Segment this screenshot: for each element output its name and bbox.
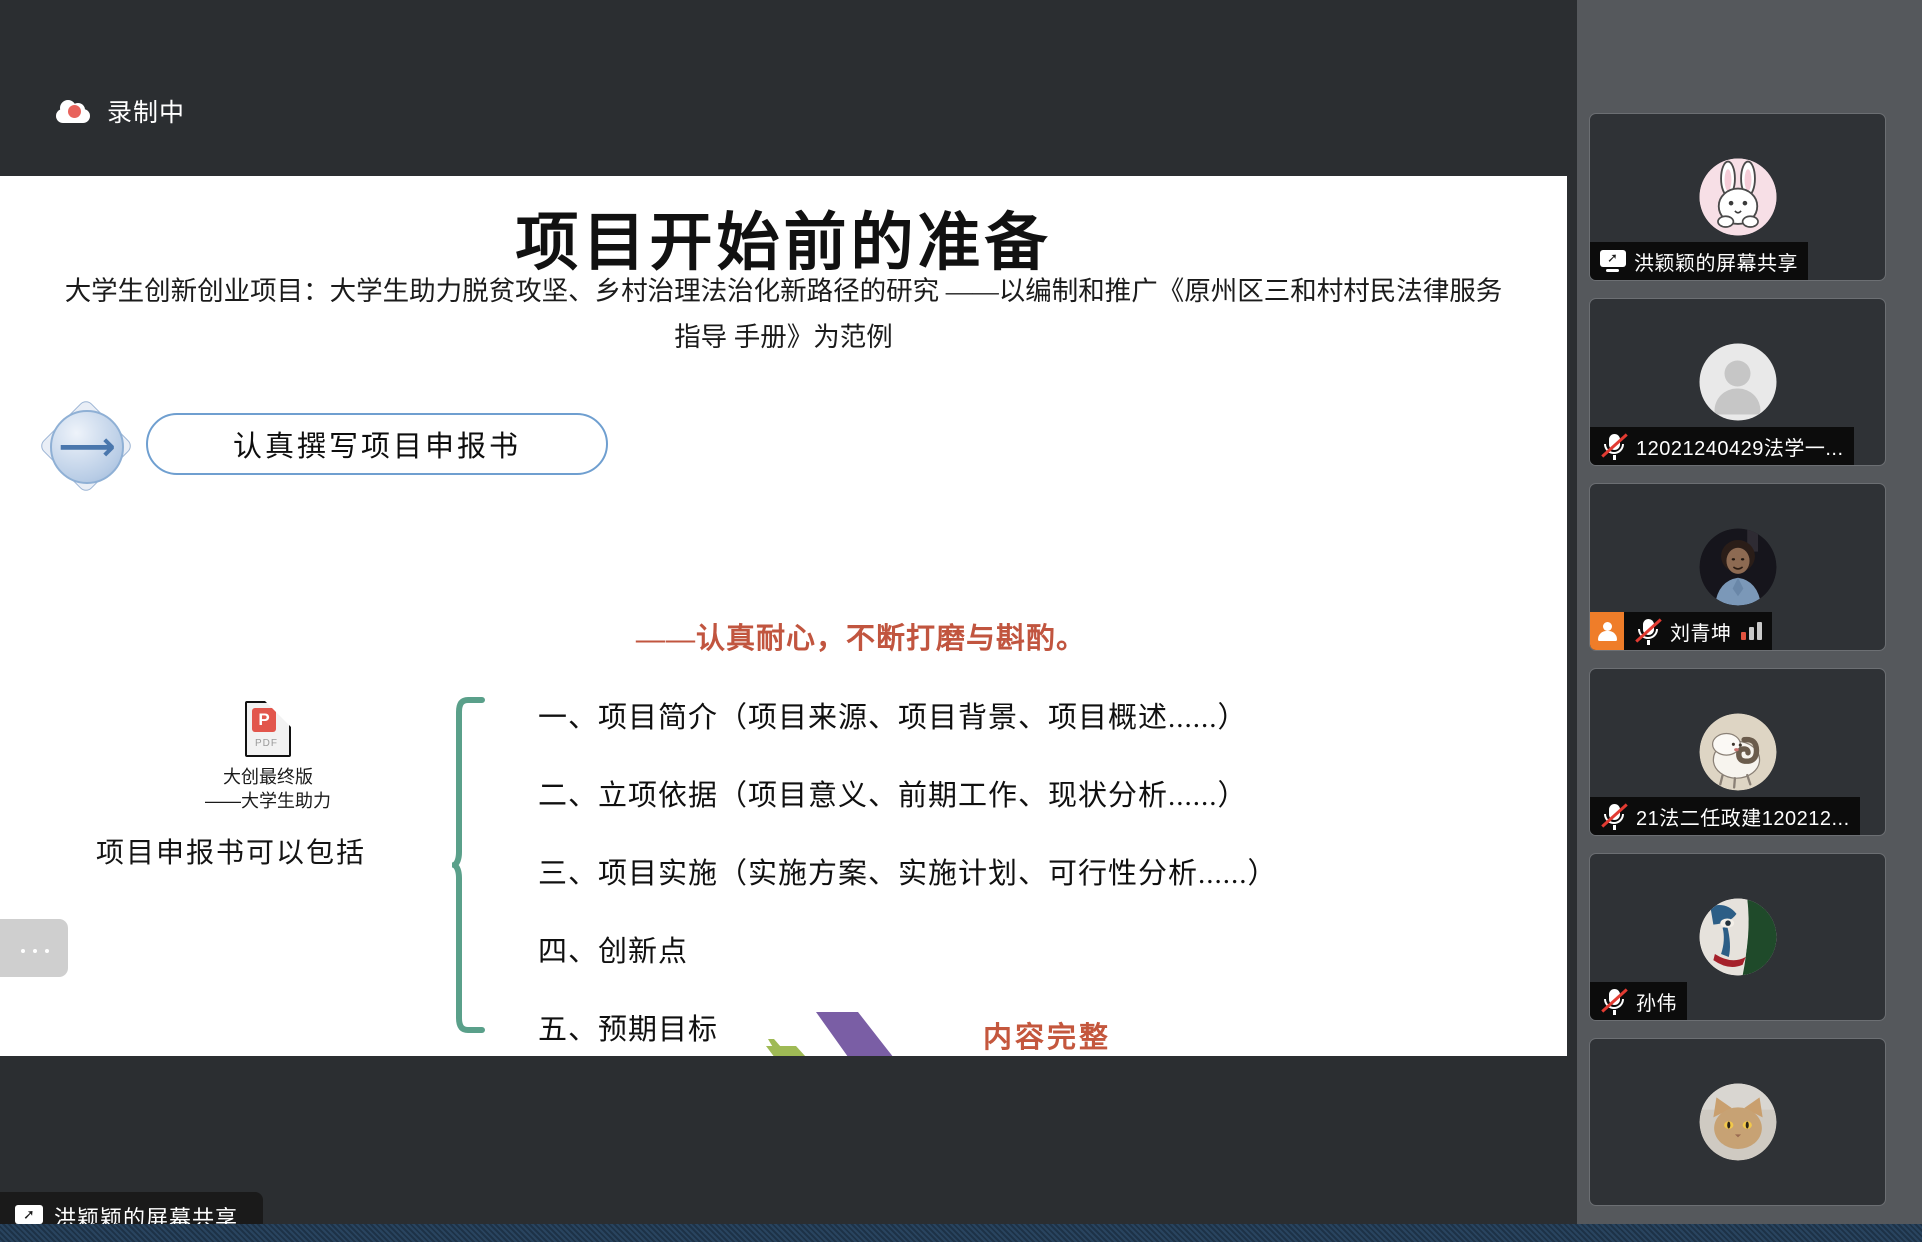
screen-share-icon: ➚ xyxy=(1600,250,1626,272)
participant-tile[interactable]: ➚ 洪颖颖的屏幕共享 xyxy=(1589,113,1886,281)
signal-strength-icon xyxy=(1741,622,1762,640)
participant-nameplate: 孙伟 xyxy=(1590,982,1687,1020)
right-arrow-icon: ⟶ xyxy=(40,404,136,490)
participant-tile[interactable] xyxy=(1589,1038,1886,1206)
pdf-file-name: 大创最终版 ——大学生助力 xyxy=(178,765,358,814)
quality-points-list: 内容完整 逻辑清晰 格式正确 质量过关 xyxy=(983,1014,1111,1056)
pdf-name-line-1: 大创最终版 xyxy=(178,765,358,789)
sheep-avatar xyxy=(1699,714,1776,791)
participant-name: 21法二任政建120212... xyxy=(1636,802,1850,831)
photo-avatar-man xyxy=(1699,529,1776,606)
list-item: 一、项目简介（项目来源、项目背景、项目概述......） xyxy=(538,694,1278,736)
mic-muted-icon xyxy=(1634,616,1662,646)
slide-red-note: ——认真耐心，不断打磨与斟酌。 xyxy=(636,615,1086,657)
participant-name: 孙伟 xyxy=(1636,987,1677,1016)
participant-name: 12021240429法学一... xyxy=(1636,432,1844,461)
desktop-wallpaper-strip xyxy=(0,1224,1922,1242)
shared-slide[interactable]: 项目开始前的准备 大学生创新创业项目：大学生助力脱贫攻坚、乡村治理法治化新路径的… xyxy=(0,176,1567,1056)
participant-name: 洪颖颖的屏幕共享 xyxy=(1634,247,1798,276)
bunny-avatar xyxy=(1699,159,1776,236)
cloud-record-icon xyxy=(56,100,90,123)
slide-subtitle: 大学生创新创业项目：大学生助力脱贫攻坚、乡村治理法治化新路径的研究 ——以编制和… xyxy=(58,268,1509,361)
list-item: 三、项目实施（实施方案、实施计划、可行性分析......） xyxy=(538,850,1278,892)
participant-tile[interactable]: 21法二任政建120212... xyxy=(1589,668,1886,836)
recording-indicator: 录制中 xyxy=(56,93,185,129)
include-label: 项目申报书可以包括 xyxy=(96,831,366,871)
participant-nameplate: 12021240429法学一... xyxy=(1590,427,1854,465)
mic-muted-icon xyxy=(1600,801,1628,831)
recording-label: 录制中 xyxy=(107,93,185,129)
participant-tile[interactable]: 12021240429法学一... xyxy=(1589,298,1886,466)
participant-nameplate: ➚ 洪颖颖的屏幕共享 xyxy=(1590,242,1808,280)
participant-name: 刘青坤 xyxy=(1670,617,1732,646)
list-item: 二、立项依据（项目意义、前期工作、现状分析......） xyxy=(538,772,1278,814)
joker-avatar xyxy=(1699,899,1776,976)
mic-muted-icon xyxy=(1600,431,1628,461)
section-badge-label: 认真撰写项目申报书 xyxy=(233,423,521,465)
participant-tile[interactable]: 孙伟 xyxy=(1589,853,1886,1021)
cat-avatar xyxy=(1699,1084,1776,1161)
section-badge: ⟶ 认真撰写项目申报书 xyxy=(40,404,580,490)
green-brace-icon xyxy=(452,696,486,1034)
outline-list: 一、项目简介（项目来源、项目背景、项目概述......） 二、立项依据（项目意义… xyxy=(538,694,1278,1056)
pdf-file-block: P PDF 大创最终版 ——大学生助力 xyxy=(178,701,358,814)
list-view-icon[interactable] xyxy=(0,919,68,977)
quality-point: 内容完整 xyxy=(983,1014,1111,1056)
recording-bar: 录制中 xyxy=(0,0,1567,176)
participant-nameplate: 刘青坤 xyxy=(1590,612,1772,650)
generic-person-avatar xyxy=(1699,344,1776,421)
pdf-name-line-2: ——大学生助力 xyxy=(178,789,358,813)
pdf-file-icon: P PDF xyxy=(245,701,291,757)
participant-nameplate: 21法二任政建120212... xyxy=(1590,797,1860,835)
section-badge-pill: 认真撰写项目申报书 xyxy=(146,413,608,475)
list-item: 四、创新点 xyxy=(538,928,1278,970)
participant-rail[interactable]: ➚ 洪颖颖的屏幕共享 12021240429法学一... xyxy=(1577,0,1922,1224)
participant-tile[interactable]: 刘青坤 xyxy=(1589,483,1886,651)
host-badge-icon xyxy=(1590,612,1624,650)
double-chevron-icon xyxy=(766,1004,926,1056)
mic-muted-icon xyxy=(1600,986,1628,1016)
